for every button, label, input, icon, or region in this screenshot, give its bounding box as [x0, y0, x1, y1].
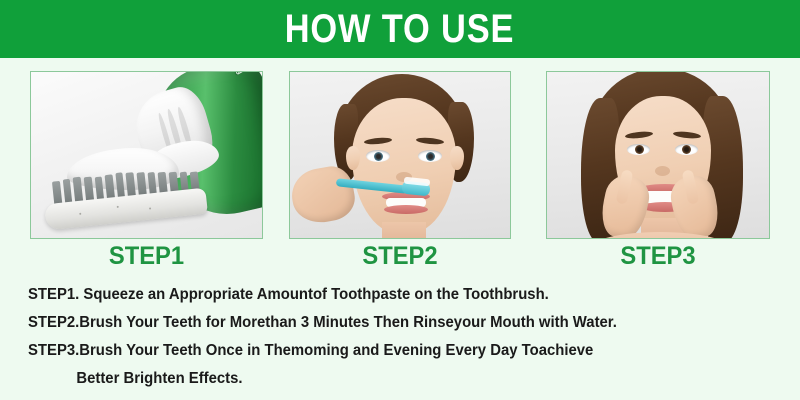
toothpaste-on-toothbrush-image: Net Wt. 4.93 OZ/140g: [31, 72, 262, 238]
iris-right: [682, 145, 691, 154]
instruction-line-2: STEP2.Brush Your Teeth for Morethan 3 Mi…: [28, 309, 735, 337]
instruction-line-3: STEP3.Brush Your Teeth Once in Themoming…: [28, 337, 735, 365]
tube-net-weight-label: Net Wt. 4.93 OZ/140g: [195, 72, 245, 76]
header-banner: HOW TO USE: [0, 0, 800, 58]
step-image-panel-1: Net Wt. 4.93 OZ/140g: [30, 71, 263, 239]
iris-right: [426, 152, 435, 161]
how-to-use-infographic: HOW TO USE Net Wt. 4.93 OZ/140g: [0, 0, 800, 400]
instruction-line-1: STEP1. Squeeze an Appropriate Amountof T…: [28, 281, 735, 309]
step-caption-3: STEP3: [552, 240, 765, 272]
instruction-list: STEP1. Squeeze an Appropriate Amountof T…: [28, 281, 788, 393]
step-image-row: Net Wt. 4.93 OZ/140g: [0, 64, 800, 239]
lower-lip: [384, 205, 428, 214]
woman-brushing-teeth-image: [290, 72, 510, 238]
page-title: HOW TO USE: [285, 9, 515, 49]
instruction-line-3-continued: Better Brighten Effects.: [28, 365, 735, 393]
iris-left: [635, 145, 644, 154]
step-captions: STEP1 STEP2 STEP3: [0, 240, 800, 276]
step-caption-2: STEP2: [295, 240, 506, 272]
iris-left: [374, 152, 383, 161]
step-image-panel-2: [289, 71, 511, 239]
neck: [382, 222, 426, 238]
smiling-woman-image: [547, 72, 769, 238]
step-caption-1: STEP1: [36, 240, 257, 272]
nose: [655, 166, 670, 176]
step-image-panel-3: [546, 71, 770, 239]
